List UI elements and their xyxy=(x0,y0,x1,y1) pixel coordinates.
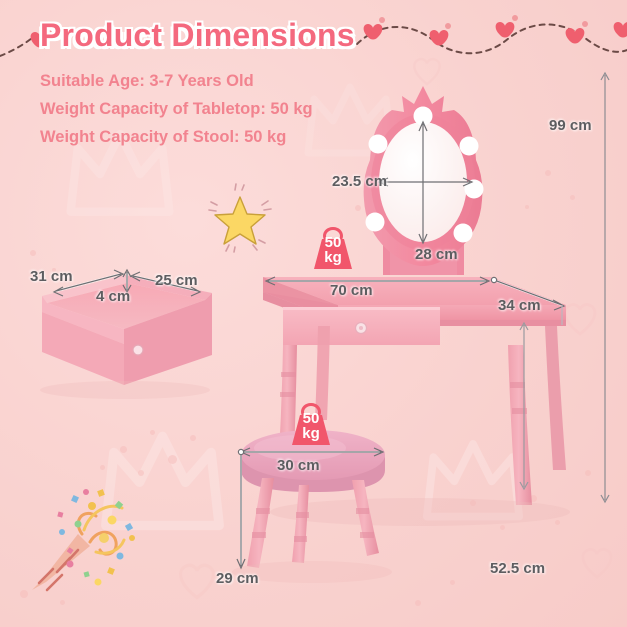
dimension-label-drawer-depth: 25 cm xyxy=(155,272,198,289)
dimension-label-drawer-width: 31 cm xyxy=(30,268,73,285)
dimension-label-drawer-height: 4 cm xyxy=(96,288,130,305)
weight-badge-stool: 50 kg xyxy=(288,400,334,448)
dimension-label-stool-diameter: 30 cm xyxy=(277,457,320,474)
infographic-canvas: Product Dimensions Suitable Age: 3-7 Yea… xyxy=(0,0,627,627)
dimension-label-stool-height: 29 cm xyxy=(216,570,259,587)
weight-badge-unit: kg xyxy=(310,250,356,265)
dimension-label-total-height: 99 cm xyxy=(549,117,592,134)
drawer-detail-knob xyxy=(133,345,143,355)
dimension-label-desk-width: 70 cm xyxy=(330,282,373,299)
dimension-label-mirror-height: 28 cm xyxy=(415,246,458,263)
dimension-label-desk-depth: 34 cm xyxy=(498,297,541,314)
weight-badge-unit: kg xyxy=(288,426,334,441)
dimension-label-desk-height: 52.5 cm xyxy=(490,560,545,577)
weight-badge-tabletop: 50 kg xyxy=(310,224,356,272)
dimension-label-mirror-width: 23.5 cm xyxy=(332,173,387,190)
